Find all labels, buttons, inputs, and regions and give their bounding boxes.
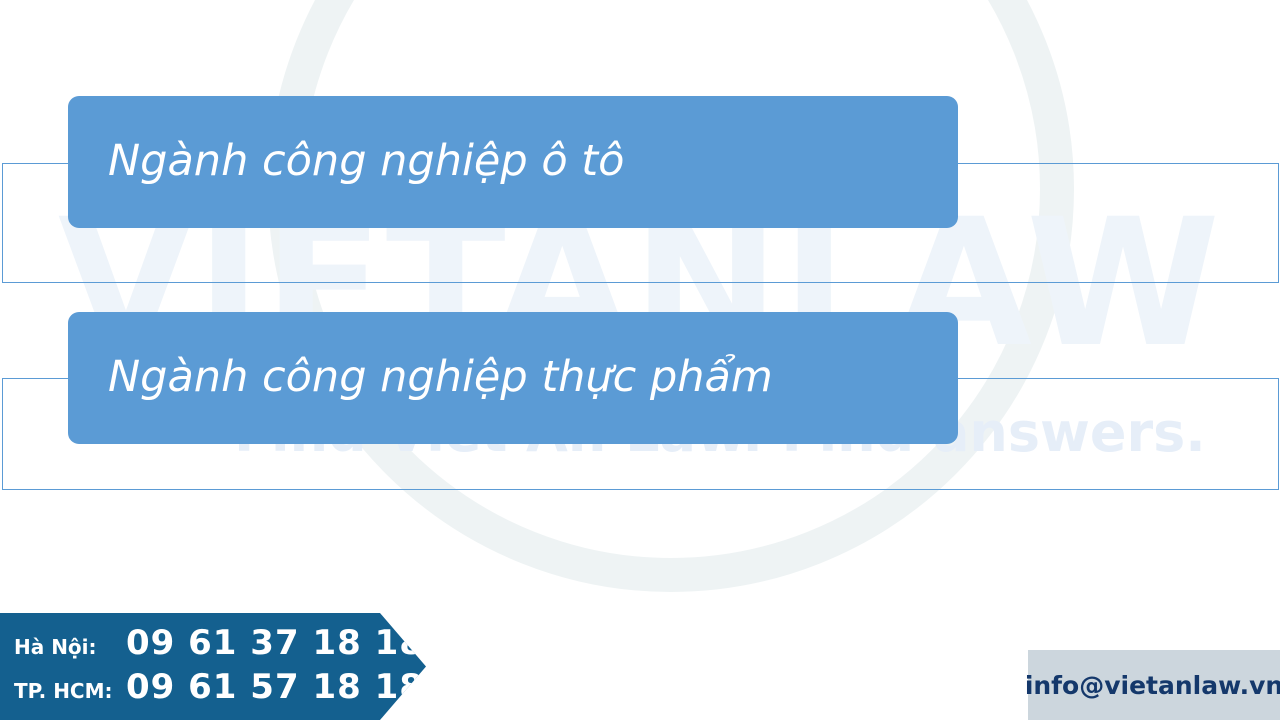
list-item-label: Ngành công nghiệp thực phẩm	[108, 354, 773, 401]
contact-phone-number[interactable]: 09 61 37 18 18	[126, 623, 424, 663]
contact-row-hcm: TP. HCM: 09 61 57 18 18	[14, 667, 426, 711]
contact-phone-number[interactable]: 09 61 57 18 18	[126, 667, 424, 707]
slide-canvas: VIETANLAW Find Viet An Law. Find answers…	[0, 0, 1280, 720]
contact-city-label: Hà Nội:	[14, 635, 126, 659]
email-badge[interactable]: info@vietanlaw.vn	[1028, 650, 1280, 720]
contact-row-hanoi: Hà Nội: 09 61 37 18 18	[14, 623, 426, 667]
list-item[interactable]: Ngành công nghiệp thực phẩm	[68, 312, 958, 444]
contact-city-label: TP. HCM:	[14, 679, 126, 703]
contact-banner: Hà Nội: 09 61 37 18 18 TP. HCM: 09 61 57…	[0, 613, 426, 720]
list-item[interactable]: Ngành công nghiệp ô tô	[68, 96, 958, 228]
industry-list-diagram: Ngành công nghiệp ô tô Ngành công nghiệp…	[0, 0, 1280, 720]
email-address: info@vietanlaw.vn	[1025, 671, 1280, 700]
list-item-label: Ngành công nghiệp ô tô	[108, 138, 624, 185]
